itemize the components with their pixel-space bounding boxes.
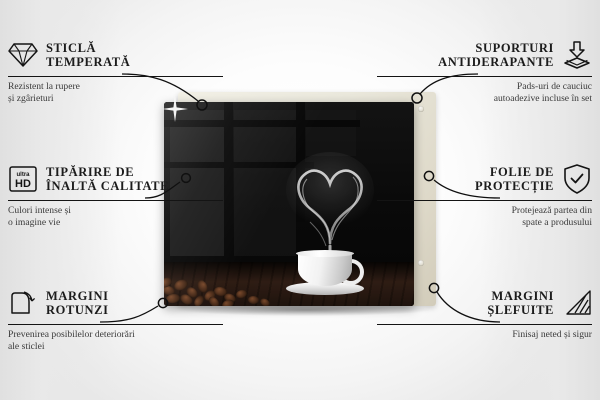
feature-description: Finisaj neted și sigur <box>377 329 592 341</box>
feature-divider <box>8 76 223 77</box>
feature-title: STICLĂ TEMPERATĂ <box>46 41 130 69</box>
feature-anti-slip-supports: SUPORTURI ANTIDERAPANTE Pads-uri de cauc… <box>377 38 592 104</box>
cup-rim <box>296 250 354 257</box>
feature-header: SUPORTURI ANTIDERAPANTE <box>377 38 592 72</box>
cup-body <box>298 252 352 286</box>
feature-title: SUPORTURI ANTIDERAPANTE <box>438 41 554 69</box>
feature-rounded-edges: MARGINI ROTUNZI Prevenirea posibilelor d… <box>8 286 223 352</box>
feature-header: MARGINI ȘLEFUITE <box>377 286 592 320</box>
feature-protective-foil: FOLIE DE PROTECȚIE Protejează partea din… <box>377 162 592 228</box>
infographic-canvas: STICLĂ TEMPERATĂ Rezistent la rupere și … <box>0 0 600 400</box>
svg-text:HD: HD <box>15 178 31 190</box>
feature-description: Culori intense și o imagine vie <box>8 205 223 228</box>
feature-description: Pads-uri de cauciuc autoadezive incluse … <box>377 81 592 104</box>
feature-title: FOLIE DE PROTECȚIE <box>475 165 554 193</box>
feature-divider <box>8 200 223 201</box>
feature-header: STICLĂ TEMPERATĂ <box>8 38 223 72</box>
feature-divider <box>377 200 592 201</box>
feature-title: MARGINI ROTUNZI <box>46 289 109 317</box>
polished-lines-icon <box>562 288 592 318</box>
rounded-corner-icon <box>8 288 38 318</box>
feature-header: FOLIE DE PROTECȚIE <box>377 162 592 196</box>
screw-hole-top-icon <box>418 106 424 112</box>
pad-stack-arrow-icon <box>562 40 592 70</box>
feature-description: Protejează partea din spate a produsului <box>377 205 592 228</box>
feature-high-quality-print: ultra HD TIPĂRIRE DE ÎNALTĂ CALITATE Cul… <box>8 162 223 228</box>
feature-tempered-glass: STICLĂ TEMPERATĂ Rezistent la rupere și … <box>8 38 223 104</box>
heart-steam <box>282 148 378 258</box>
coffee-cup <box>292 252 358 292</box>
feature-description: Prevenirea posibilelor deteriorări ale s… <box>8 329 223 352</box>
feature-divider <box>377 324 592 325</box>
diamond-icon <box>8 40 38 70</box>
shield-check-icon <box>562 164 592 194</box>
ultra-hd-icon: ultra HD <box>8 164 38 194</box>
feature-header: ultra HD TIPĂRIRE DE ÎNALTĂ CALITATE <box>8 162 223 196</box>
feature-description: Rezistent la rupere și zgârieturi <box>8 81 223 104</box>
feature-divider <box>377 76 592 77</box>
screw-hole-bottom-icon <box>418 260 424 266</box>
feature-divider <box>8 324 223 325</box>
feature-title: MARGINI ȘLEFUITE <box>487 289 554 317</box>
feature-polished-edges: MARGINI ȘLEFUITE Finisaj neted și sigur <box>377 286 592 341</box>
feature-title: TIPĂRIRE DE ÎNALTĂ CALITATE <box>46 165 169 193</box>
feature-header: MARGINI ROTUNZI <box>8 286 223 320</box>
